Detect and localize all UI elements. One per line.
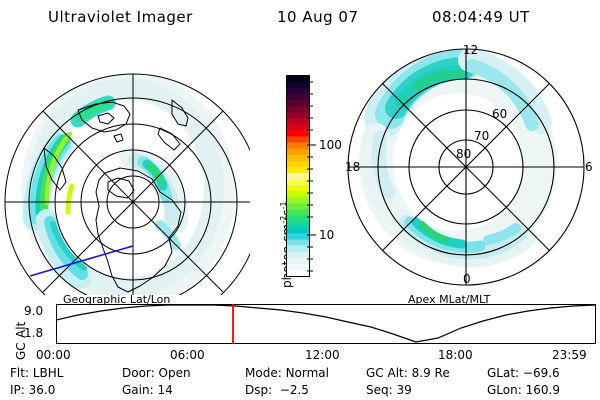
mlt-label-6: 6 [585,160,593,174]
mlat-label-60: 60 [492,107,507,121]
colorbar-tick-100: 100 [319,138,342,152]
mlat-label-80: 80 [456,147,471,161]
colorbar-ticks [307,75,317,277]
time-tick-1200: 12:00 [305,348,340,362]
colorbar-panel: photon cm-2s-1 [255,50,350,295]
time-tick-0000: 00:00 [36,348,71,362]
gc-alt-panel[interactable]: Alt GC 9.0 1.8 00:00 06:00 12:00 18:00 2… [0,300,600,360]
apex-dial-svg: 60 70 80 [340,40,600,295]
time-tick-1800: 18:00 [438,348,473,362]
observation-time: 08:04:49 UT [432,8,530,26]
instrument-title: Ultraviolet Imager [48,8,193,26]
mlt-label-0: 0 [463,272,471,286]
gc-alt-max-label: 9.0 [24,304,43,318]
time-tick-2359: 23:59 [552,348,587,362]
uvi-display: Ultraviolet Imager 10 Aug 07 08:04:49 UT [0,0,600,400]
mlat-label-70: 70 [474,129,489,143]
mlt-label-12: 12 [463,43,478,57]
gc-alt-min-label: 1.8 [24,326,43,340]
geographic-map-svg [0,40,250,295]
status-flt: Flt: LBHL [10,366,63,380]
gc-alt-plot [56,304,596,344]
colorbar-tick-10: 10 [319,228,334,242]
observation-date: 10 Aug 07 [277,8,359,26]
status-gc-alt: GC Alt: 8.9 Re [366,366,450,380]
apex-dial-panel[interactable]: 60 70 80 12 6 0 18 [340,40,600,295]
status-footer: Flt: LBHL Door: Open Mode: Normal GC Alt… [0,366,600,400]
status-glat: GLat: −69.6 [487,366,560,380]
status-dsp: Dsp: −2.5 [245,383,309,397]
time-tick-0600: 06:00 [170,348,205,362]
geographic-map-panel[interactable] [0,40,250,295]
status-ip: IP: 36.0 [10,383,55,397]
mlt-label-18: 18 [345,160,360,174]
mlt-spokes [348,49,584,285]
gc-alt-axis-name-line2: GC [14,342,28,360]
status-gain: Gain: 14 [122,383,173,397]
status-seq: Seq: 39 [366,383,412,397]
status-door: Door: Open [122,366,191,380]
status-mode: Mode: Normal [245,366,329,380]
status-glon: GLon: 160.9 [487,383,560,397]
